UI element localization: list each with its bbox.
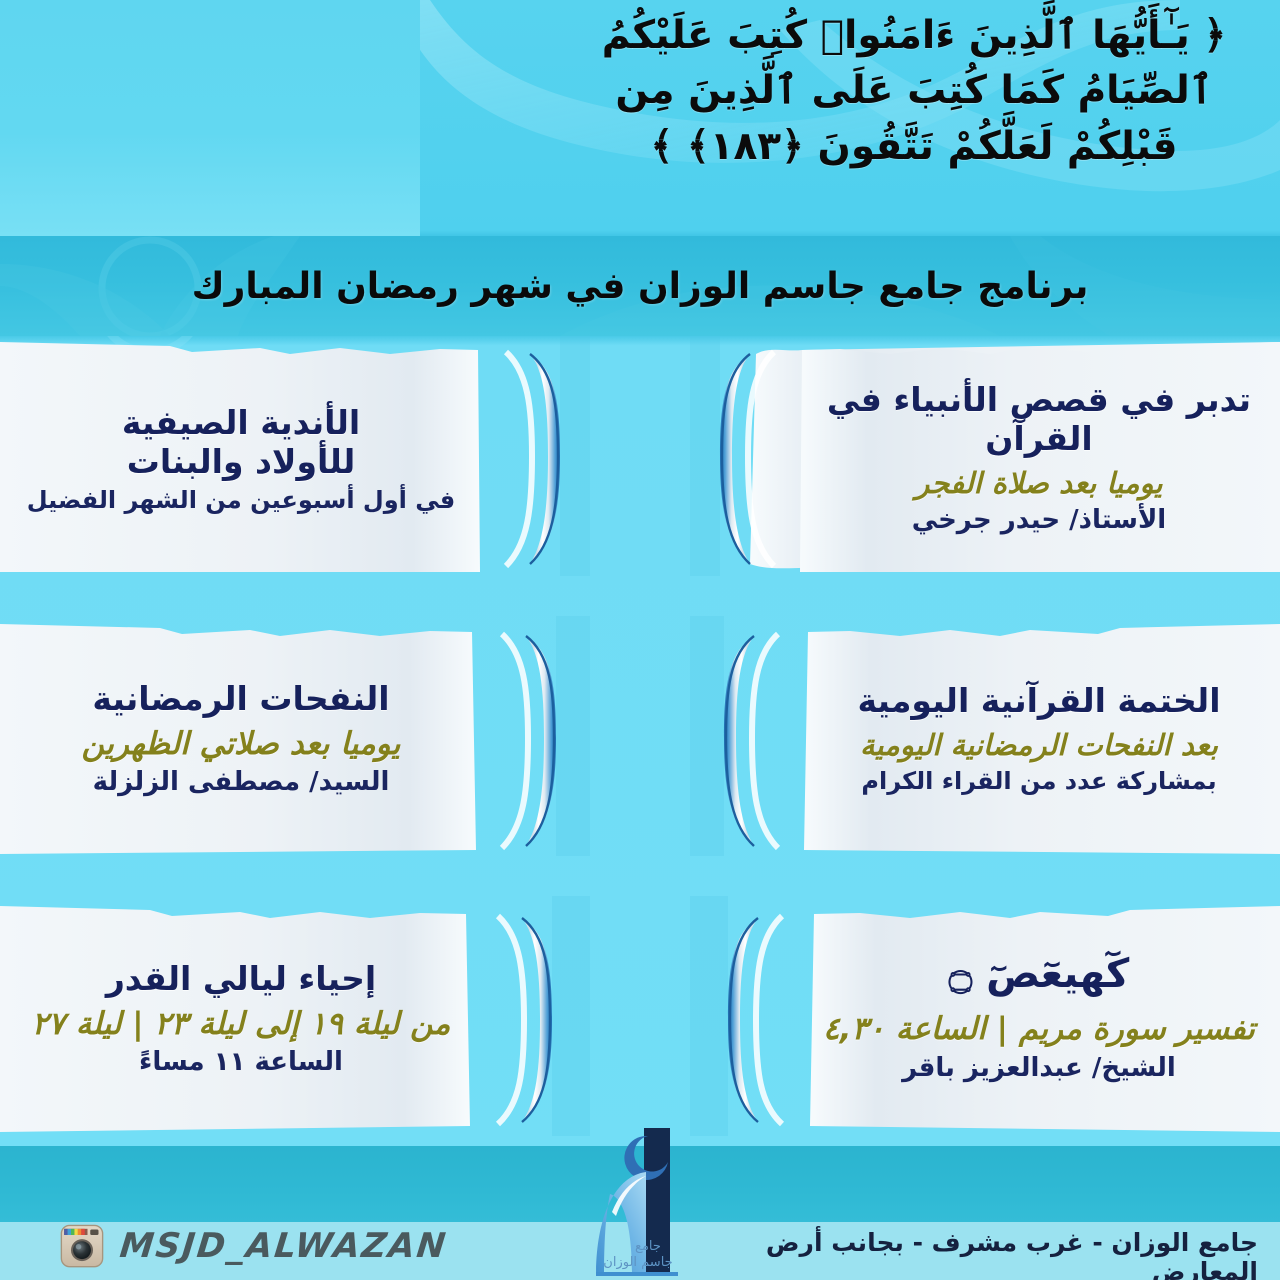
program-card-left-1[interactable]: الأندية الصيفية للأولاد والبنات في أول أ… — [0, 336, 590, 576]
card-presenter: في أول أسبوعين من الشهر الفضيل — [0, 486, 482, 515]
card-subtitle: يوميا بعد صلاة الفجر — [798, 465, 1280, 501]
program-row-2: الختمة القرآنية اليومية بعد النفحات الرم… — [0, 616, 1280, 856]
mosque-address: جامع الوزان - غرب مشرف - بجانب أرض المعا… — [698, 1228, 1258, 1280]
ramadan-program-poster: ﴿ يَـٰٓأَيُّهَا ٱلَّذِينَ ءَامَنُوا۟ كُت… — [0, 0, 1280, 1280]
program-row-3: كٓهيعٓصٓ ۝ تفسير سورة مريم | الساعة ٤,٣٠… — [0, 896, 1280, 1136]
card-presenter: الأستاذ/ حيدر جرخي — [798, 505, 1280, 536]
card-title: تدبر في قصص الأنبياء في القرآن — [798, 381, 1280, 459]
mosque-logo-mark: جامع جاسم الوزان — [588, 1128, 698, 1280]
card-content-right-2: الختمة القرآنية اليومية بعد النفحات الرم… — [780, 616, 1280, 856]
card-content-left-3: إحياء ليالي القدر من ليلة ١٩ إلى ليلة ٢٣… — [0, 896, 500, 1136]
card-content-right-1: تدبر في قصص الأنبياء في القرآن يوميا بعد… — [780, 336, 1280, 576]
card-subtitle: بعد النفحات الرمضانية اليومية — [798, 727, 1280, 763]
logo-text-line-1: جامع — [635, 1239, 661, 1254]
logo-text-line-2: جاسم الوزان — [603, 1255, 672, 1270]
card-title: النفحات الرمضانية — [0, 680, 482, 719]
program-card-right-2[interactable]: الختمة القرآنية اليومية بعد النفحات الرم… — [690, 616, 1280, 856]
title-band: برنامج جامع جاسم الوزان في شهر رمضان الم… — [0, 236, 1280, 336]
card-subtitle: يوميا بعد صلاتي الظهرين — [0, 725, 482, 764]
instagram-icon — [60, 1224, 104, 1268]
card-content-right-3: كٓهيعٓصٓ ۝ تفسير سورة مريم | الساعة ٤,٣٠… — [780, 896, 1280, 1136]
card-content-left-1: الأندية الصيفية للأولاد والبنات في أول أ… — [0, 336, 500, 576]
card-presenter: السيد/ مصطفى الزلزلة — [0, 767, 482, 798]
card-title: إحياء ليالي القدر — [0, 960, 482, 999]
program-row-1: تدبر في قصص الأنبياء في القرآن يوميا بعد… — [0, 336, 1280, 576]
program-card-right-3[interactable]: كٓهيعٓصٓ ۝ تفسير سورة مريم | الساعة ٤,٣٠… — [690, 896, 1280, 1136]
program-card-left-3[interactable]: إحياء ليالي القدر من ليلة ١٩ إلى ليلة ٢٣… — [0, 896, 590, 1136]
card-title-line-2: للأولاد والبنات — [0, 443, 482, 482]
page-title: برنامج جامع جاسم الوزان في شهر رمضان الم… — [0, 236, 1280, 336]
card-subtitle: من ليلة ١٩ إلى ليلة ٢٣ | ليلة ٢٧ — [0, 1005, 482, 1044]
mosque-photograph — [0, 0, 420, 240]
card-title: الختمة القرآنية اليومية — [798, 682, 1280, 721]
surah-opening-letters: كٓهيعٓصٓ ۝ — [798, 954, 1280, 994]
card-presenter: الساعة ١١ مساءً — [0, 1047, 482, 1078]
card-content-left-2: النفحات الرمضانية يوميا بعد صلاتي الظهري… — [0, 616, 500, 856]
card-presenter: الشيخ/ عبدالعزيز باقر — [798, 1053, 1280, 1084]
card-title-line-1: الأندية الصيفية — [0, 404, 482, 443]
card-presenter: بمشاركة عدد من القراء الكرام — [798, 767, 1280, 796]
program-card-right-1[interactable]: تدبر في قصص الأنبياء في القرآن يوميا بعد… — [690, 336, 1280, 576]
instagram-handle: MSJD_ALWAZAN — [118, 1226, 449, 1266]
mosque-logo[interactable]: جامع جاسم الوزان — [588, 1128, 698, 1280]
program-card-left-2[interactable]: النفحات الرمضانية يوميا بعد صلاتي الظهري… — [0, 616, 590, 856]
instagram-link[interactable]: MSJD_ALWAZAN — [60, 1224, 447, 1268]
quran-verse: ﴿ يَـٰٓأَيُّهَا ٱلَّذِينَ ءَامَنُوا۟ كُت… — [564, 8, 1264, 174]
card-subtitle: تفسير سورة مريم | الساعة ٤,٣٠ — [798, 1010, 1280, 1049]
